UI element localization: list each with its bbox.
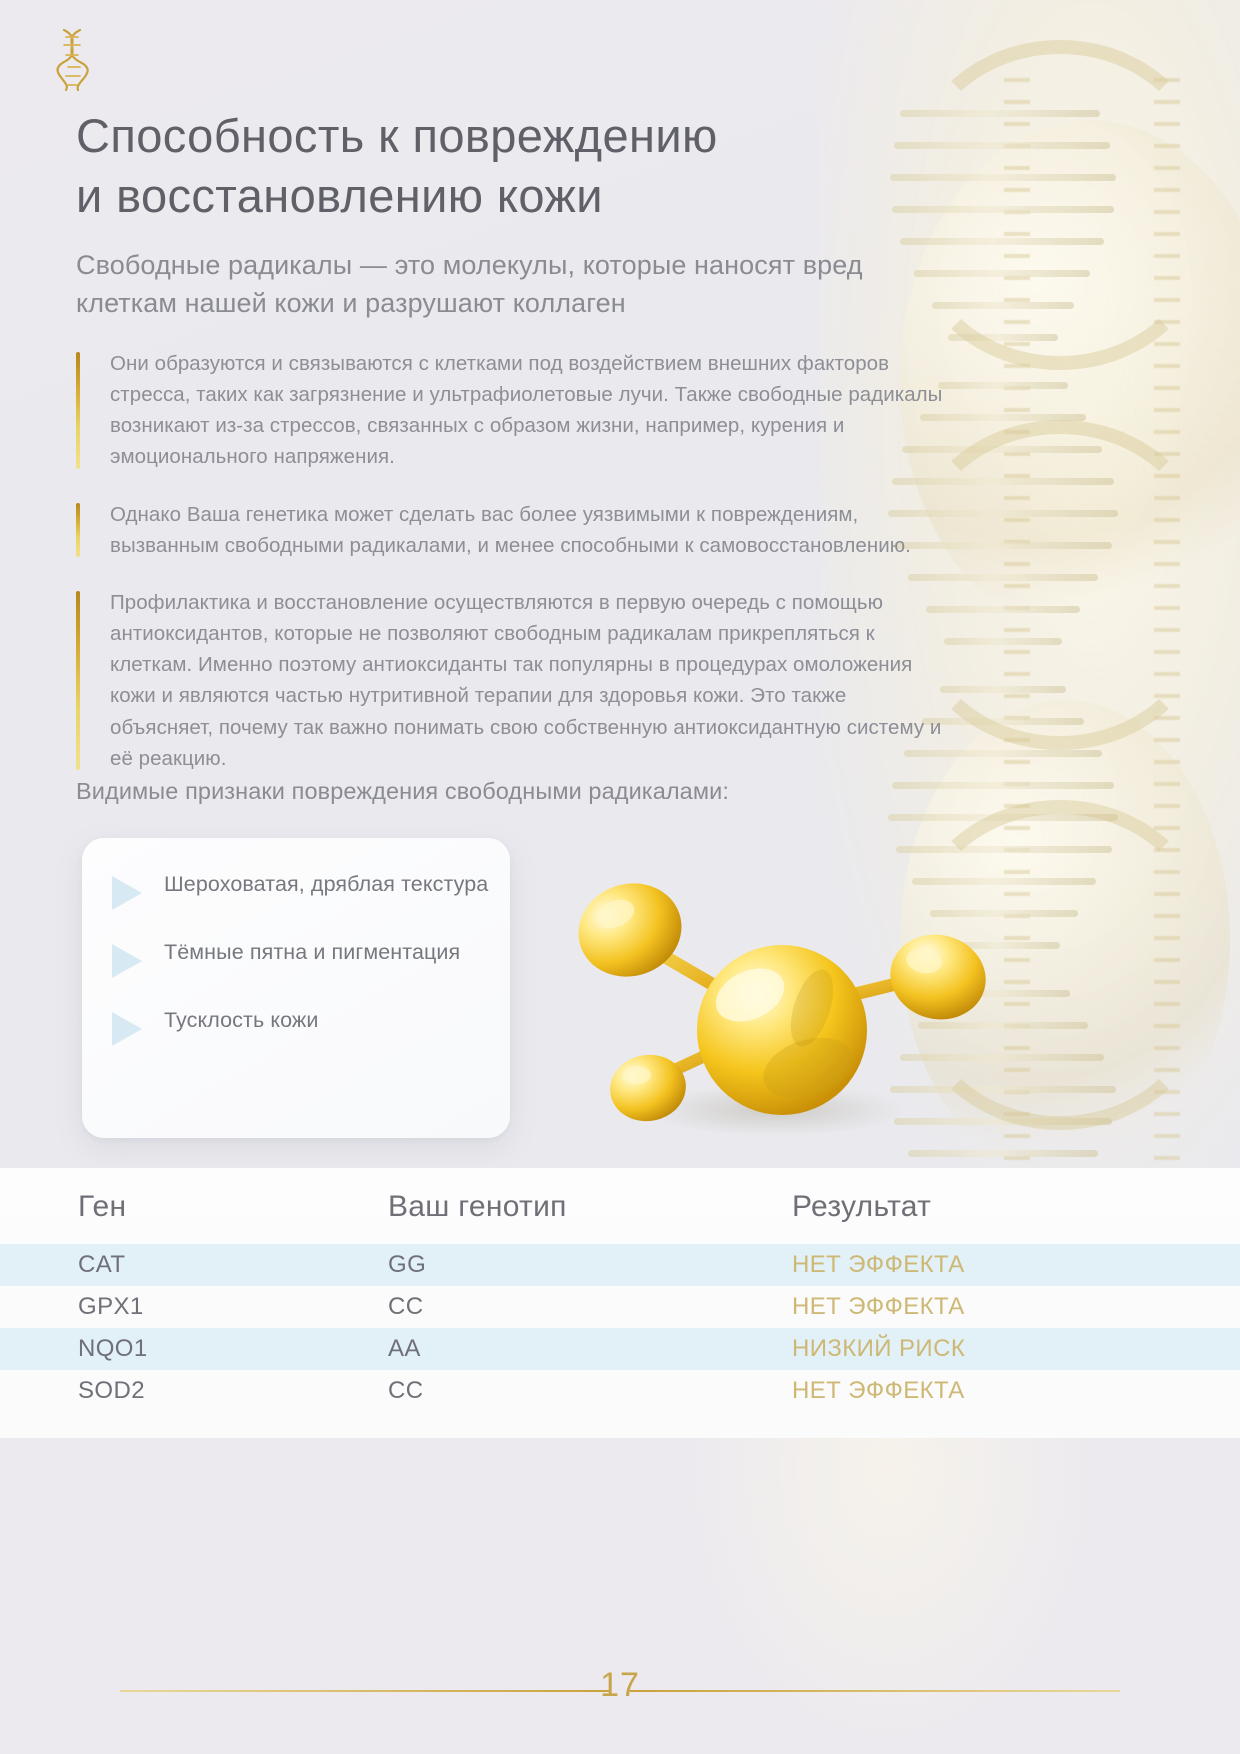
triangle-right-icon [112,876,142,910]
page-subtitle: Свободные радикалы — это молекулы, котор… [76,246,956,323]
visible-signs-heading: Видимые признаки повреждения свободными … [76,778,976,805]
table-cell-genotype: AA [388,1335,421,1363]
report-page: Способность к повреждению и восстановлен… [0,0,1240,1754]
paragraph-block: Однако Ваша генетика может сделать вас б… [76,499,946,561]
table-cell-gene: GPX1 [78,1293,144,1321]
table-column-header-result: Результат [792,1190,931,1224]
table-cell-genotype: CC [388,1377,423,1405]
table-cell-gene: SOD2 [78,1377,145,1405]
list-item: Тусклость кожи [106,1004,492,1046]
list-item: Шероховатая, дряблая текстура [106,868,492,910]
genotype-table: Ген Ваш генотип Результат CAT GG НЕТ ЭФФ… [0,1168,1240,1438]
table-cell-result: НЕТ ЭФФЕКТА [792,1293,965,1321]
gold-accent-bar [76,352,80,469]
page-number: 17 [0,1666,1240,1705]
table-cell-result: НЕТ ЭФФЕКТА [792,1377,965,1405]
triangle-right-icon [112,944,142,978]
page-title-line-1: Способность к повреждению [76,109,718,162]
page-footer: 17 [0,1438,1240,1754]
table-row: SOD2 CC НЕТ ЭФФЕКТА [0,1370,1240,1412]
list-item-label: Тёмные пятна и пигментация [164,936,460,968]
page-title: Способность к повреждению и восстановлен… [76,106,976,226]
page-title-line-2: и восстановлению кожи [76,169,603,222]
paragraph-block: Они образуются и связываются с клетками … [76,348,946,473]
triangle-right-icon [112,1012,142,1046]
table-cell-gene: NQO1 [78,1335,148,1363]
table-row: CAT GG НЕТ ЭФФЕКТА [0,1244,1240,1286]
table-column-header-genotype: Ваш генотип [388,1190,567,1224]
gold-molecule-icon [560,830,1030,1160]
visible-signs-card: Шероховатая, дряблая текстура Тёмные пят… [82,838,510,1138]
table-cell-genotype: CC [388,1293,423,1321]
table-row: GPX1 CC НЕТ ЭФФЕКТА [0,1286,1240,1328]
table-cell-result: НЕТ ЭФФЕКТА [792,1251,965,1279]
table-cell-genotype: GG [388,1251,426,1279]
table-column-header-gene: Ген [78,1190,126,1224]
paragraph-text: Профилактика и восстановление осуществля… [110,587,946,774]
list-item-label: Тусклость кожи [164,1004,319,1036]
table-row: NQO1 AA НИЗКИЙ РИСК [0,1328,1240,1370]
gold-accent-bar [76,591,80,770]
paragraph-block-list: Они образуются и связываются с клетками … [76,348,946,800]
list-item: Тёмные пятна и пигментация [106,936,492,978]
gold-accent-bar [76,503,80,557]
dna-helix-icon [44,26,102,94]
list-item-label: Шероховатая, дряблая текстура [164,868,488,900]
table-cell-result: НИЗКИЙ РИСК [792,1335,965,1363]
paragraph-text: Однако Ваша генетика может сделать вас б… [110,499,946,561]
paragraph-text: Они образуются и связываются с клетками … [110,348,946,473]
table-header-row: Ген Ваш генотип Результат [0,1168,1240,1244]
paragraph-block: Профилактика и восстановление осуществля… [76,587,946,774]
table-cell-gene: CAT [78,1251,125,1279]
